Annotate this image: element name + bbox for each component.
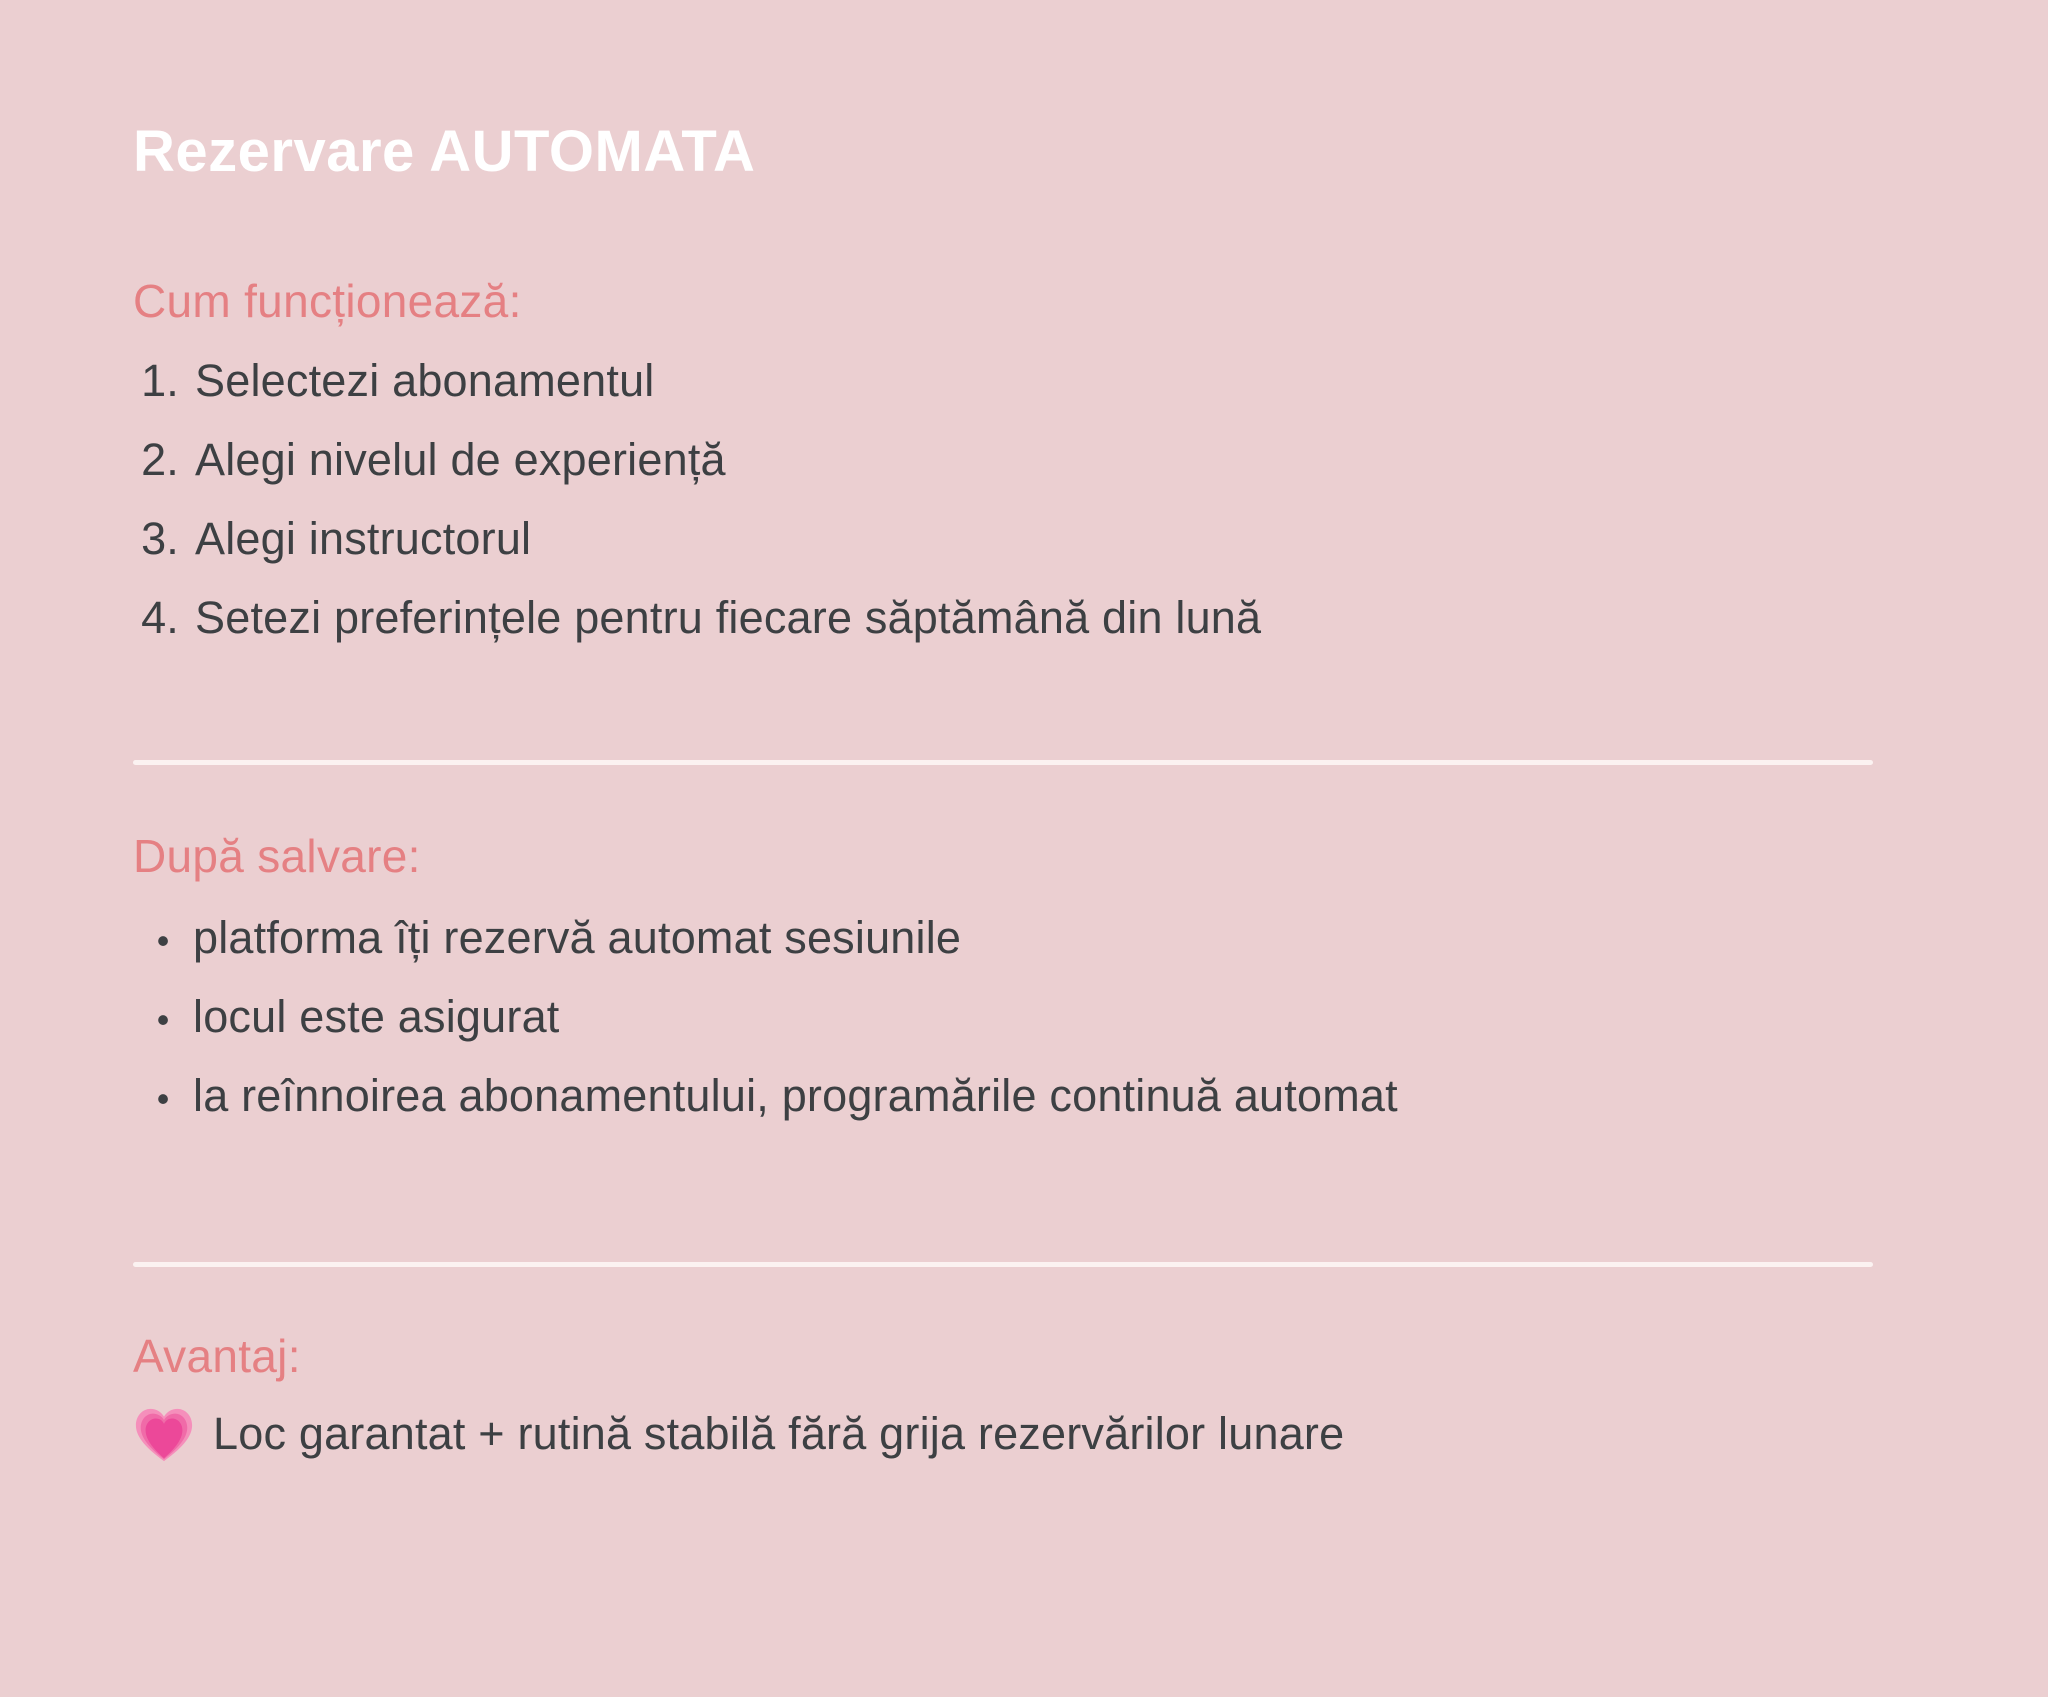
list-item: 3. Alegi instructorul [133,508,1933,570]
step-number: 3. [133,508,195,570]
section-heading-after-saving: După salvare: [133,833,1933,879]
list-item: • la reînnoirea abonamentului, programăr… [133,1065,1933,1127]
step-number: 2. [133,429,195,491]
step-label: Alegi nivelul de experiență [195,429,726,491]
how-it-works-steps: 1. Selectezi abonamentul 2. Alegi nivelu… [133,350,1933,649]
bullet-icon: • [133,1002,193,1038]
section-divider [133,760,1873,765]
benefit-label: Loc garantat + rutină stabilă fără grija… [213,1403,1344,1465]
after-saving-items: • platforma îți rezervă automat sesiunil… [133,907,1933,1127]
section-benefit: Avantaj: Loc garantat + rutină stabilă f… [133,1333,1933,1465]
section-heading-benefit: Avantaj: [133,1333,1933,1379]
list-item: 4. Setezi preferințele pentru fiecare să… [133,587,1933,649]
benefit-line: Loc garantat + rutină stabilă fără grija… [133,1403,1933,1465]
list-item: 2. Alegi nivelul de experiență [133,429,1933,491]
step-label: Setezi preferințele pentru fiecare săptă… [195,587,1261,649]
section-after-saving: După salvare: • platforma îți rezervă au… [133,833,1933,1144]
list-item: • locul este asigurat [133,986,1933,1048]
bullet-icon: • [133,923,193,959]
step-number: 4. [133,587,195,649]
list-item-label: la reînnoirea abonamentului, programăril… [193,1065,1398,1127]
list-item-label: platforma îți rezervă automat sesiunile [193,907,961,969]
section-heading-how-it-works: Cum funcționează: [133,278,1933,324]
section-divider [133,1262,1873,1267]
list-item: 1. Selectezi abonamentul [133,350,1933,412]
list-item: • platforma îți rezervă automat sesiunil… [133,907,1933,969]
info-card: Rezervare AUTOMATA Cum funcționează: 1. … [0,0,2048,1697]
growing-heart-icon [133,1403,195,1465]
step-label: Alegi instructorul [195,508,531,570]
step-label: Selectezi abonamentul [195,350,655,412]
step-number: 1. [133,350,195,412]
section-how-it-works: Cum funcționează: 1. Selectezi abonament… [133,278,1933,666]
bullet-icon: • [133,1081,193,1117]
page-title: Rezervare AUTOMATA [133,123,755,181]
list-item-label: locul este asigurat [193,986,560,1048]
